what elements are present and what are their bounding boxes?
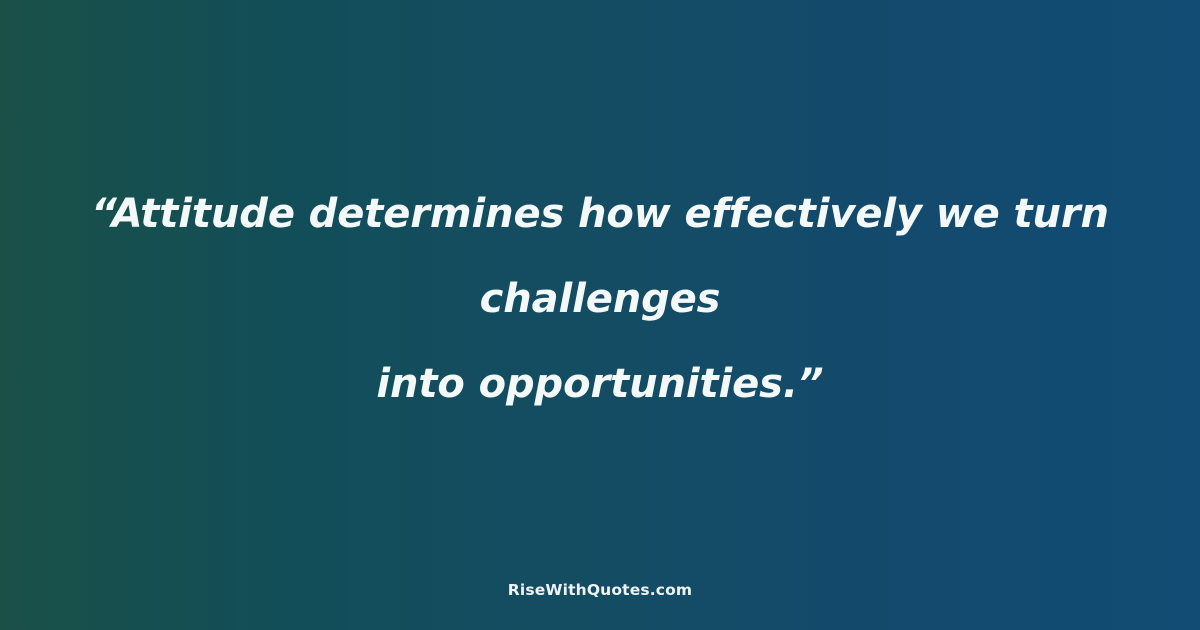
quote-card: “Attitude determines how effectively we … (0, 0, 1200, 630)
footer: RiseWithQuotes.com (0, 580, 1200, 599)
site-attribution-label: RiseWithQuotes.com (508, 581, 692, 599)
quote-text: “Attitude determines how effectively we … (70, 172, 1130, 427)
quote-block: “Attitude determines how effectively we … (0, 172, 1200, 427)
